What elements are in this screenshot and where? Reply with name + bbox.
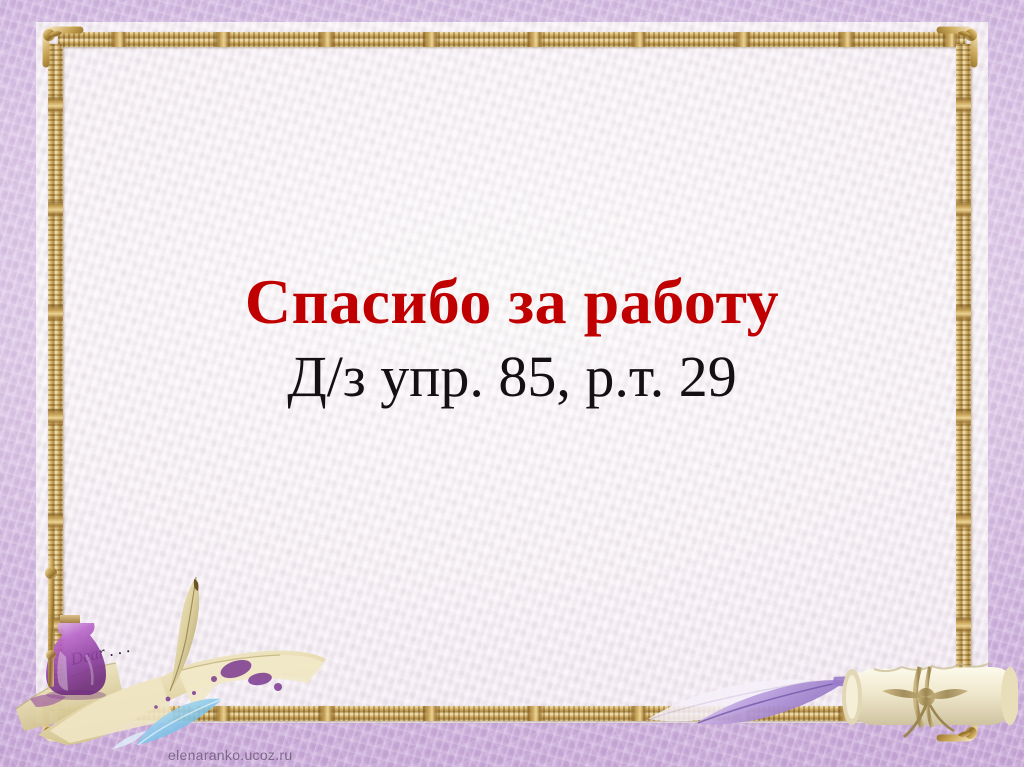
presentation-slide: Спасибо за работу Д/з упр. 85, р.т. 29 bbox=[0, 0, 1024, 767]
site-watermark: elenaranko.ucoz.ru bbox=[168, 747, 292, 763]
slide-text-block: Спасибо за работу Д/з упр. 85, р.т. 29 bbox=[0, 268, 1024, 408]
slide-homework-line: Д/з упр. 85, р.т. 29 bbox=[0, 347, 1024, 408]
slide-title: Спасибо за работу bbox=[0, 268, 1024, 335]
